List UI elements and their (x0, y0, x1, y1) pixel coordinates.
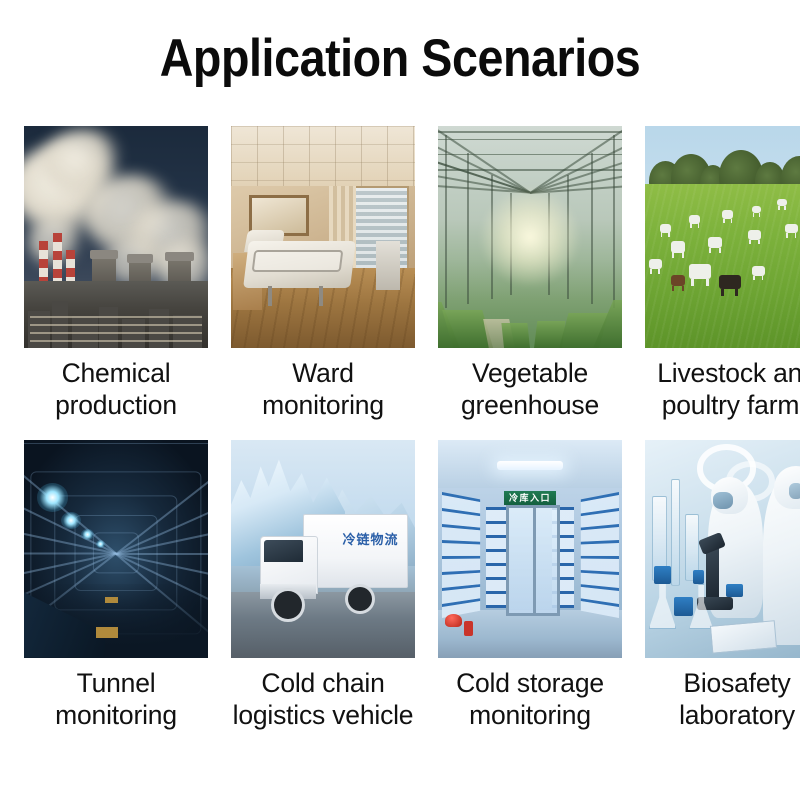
scenario-image-chemical-production (24, 126, 208, 348)
caption-line-2: poultry farms (639, 389, 800, 421)
caption-line-1: Vegetable (472, 358, 588, 388)
fire-extinguisher-icon (464, 621, 473, 636)
scenario-card-ward-monitoring[interactable]: Ward monitoring (225, 126, 421, 422)
caption-line-2: monitoring (432, 699, 628, 731)
caption-line-2: laboratory (639, 699, 800, 731)
truck-label-text: 冷链物流 (342, 529, 398, 548)
scenario-caption-livestock-and-poultry-farms: Livestock and poultry farms (639, 357, 800, 422)
caption-line-1: Ward (292, 358, 354, 388)
caption-line-2: monitoring (18, 699, 214, 731)
scenario-caption-cold-storage-monitoring: Cold storage monitoring (432, 667, 628, 732)
caption-line-1: Livestock and (657, 358, 800, 388)
scenario-image-cold-storage-monitoring: 冷库入口 (438, 440, 622, 658)
scenario-image-tunnel-monitoring (24, 440, 208, 658)
truck-box (303, 514, 408, 588)
caption-line-1: Chemical (62, 358, 171, 388)
scenario-image-cold-chain-logistics-vehicle: 冷链物流 (231, 440, 415, 658)
caption-line-1: Biosafety (683, 668, 790, 698)
application-scenarios-page: Application Scenarios (0, 0, 800, 800)
caption-line-1: Tunnel (77, 668, 156, 698)
scenario-card-cold-storage-monitoring[interactable]: 冷库入口 Cold storage monitoring (432, 440, 628, 732)
cold-storage-sign-text: 冷库入口 (509, 491, 551, 504)
scenario-grid: Chemical production War (18, 126, 794, 731)
caption-line-1: Cold storage (456, 668, 604, 698)
caption-line-2: production (18, 389, 214, 421)
scenario-caption-chemical-production: Chemical production (18, 357, 214, 422)
scenario-caption-biosafety-laboratory: Biosafety laboratory (639, 667, 800, 732)
scenario-image-vegetable-greenhouse (438, 126, 622, 348)
scenario-caption-cold-chain-logistics-vehicle: Cold chain logistics vehicle (225, 667, 421, 732)
scenario-caption-vegetable-greenhouse: Vegetable greenhouse (432, 357, 628, 422)
cold-storage-entrance-sign: 冷库入口 (504, 491, 556, 505)
caption-line-2: monitoring (225, 389, 421, 421)
alarm-light-icon (445, 614, 462, 627)
scenario-caption-tunnel-monitoring: Tunnel monitoring (18, 667, 214, 732)
caption-line-1: Cold chain (261, 668, 384, 698)
scenario-card-biosafety-laboratory[interactable]: Biosafety laboratory (639, 440, 800, 732)
scenario-image-ward-monitoring (231, 126, 415, 348)
caption-line-2: greenhouse (432, 389, 628, 421)
scenario-image-livestock-and-poultry-farms (645, 126, 800, 348)
scenario-image-biosafety-laboratory (645, 440, 800, 658)
caption-line-2: logistics vehicle (225, 699, 421, 731)
scenario-card-vegetable-greenhouse[interactable]: Vegetable greenhouse (432, 126, 628, 422)
scenario-caption-ward-monitoring: Ward monitoring (225, 357, 421, 422)
scenario-card-chemical-production[interactable]: Chemical production (18, 126, 214, 422)
scenario-card-livestock-and-poultry-farms[interactable]: Livestock and poultry farms (639, 126, 800, 422)
scenario-card-tunnel-monitoring[interactable]: Tunnel monitoring (18, 440, 214, 732)
scenario-card-cold-chain-logistics-vehicle[interactable]: 冷链物流 Cold chain logistics vehicle (225, 440, 421, 732)
page-title: Application Scenarios (48, 28, 752, 89)
